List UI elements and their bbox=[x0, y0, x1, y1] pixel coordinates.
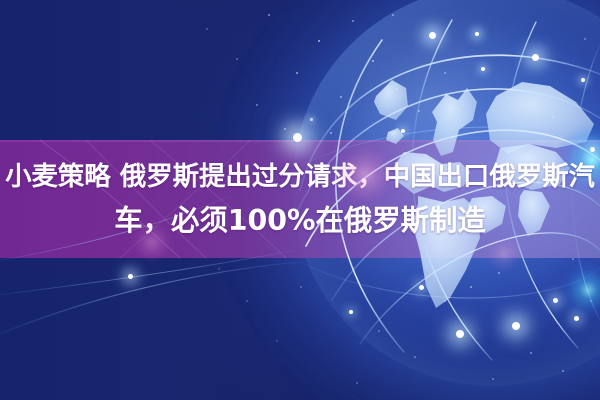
network-node bbox=[429, 32, 436, 39]
pink-light-flare bbox=[132, 222, 172, 262]
network-node bbox=[553, 298, 558, 303]
network-node bbox=[512, 322, 520, 330]
network-node bbox=[574, 316, 579, 321]
pink-light-flare bbox=[486, 236, 522, 272]
pink-light-flare bbox=[336, 146, 394, 204]
network-node bbox=[419, 285, 424, 290]
network-node bbox=[401, 129, 405, 133]
network-node bbox=[475, 32, 479, 36]
network-node bbox=[481, 67, 485, 71]
headline-line-1: 小麦策略 俄罗斯提出过分请求，中国出口俄罗斯汽 bbox=[5, 155, 595, 199]
network-node bbox=[349, 310, 353, 314]
network-node bbox=[456, 330, 464, 338]
network-node bbox=[128, 274, 133, 279]
banner-image: 小麦策略 俄罗斯提出过分请求，中国出口俄罗斯汽 车，必须100%在俄罗斯制造 bbox=[0, 0, 600, 400]
network-node bbox=[581, 78, 585, 82]
network-node bbox=[532, 54, 539, 61]
